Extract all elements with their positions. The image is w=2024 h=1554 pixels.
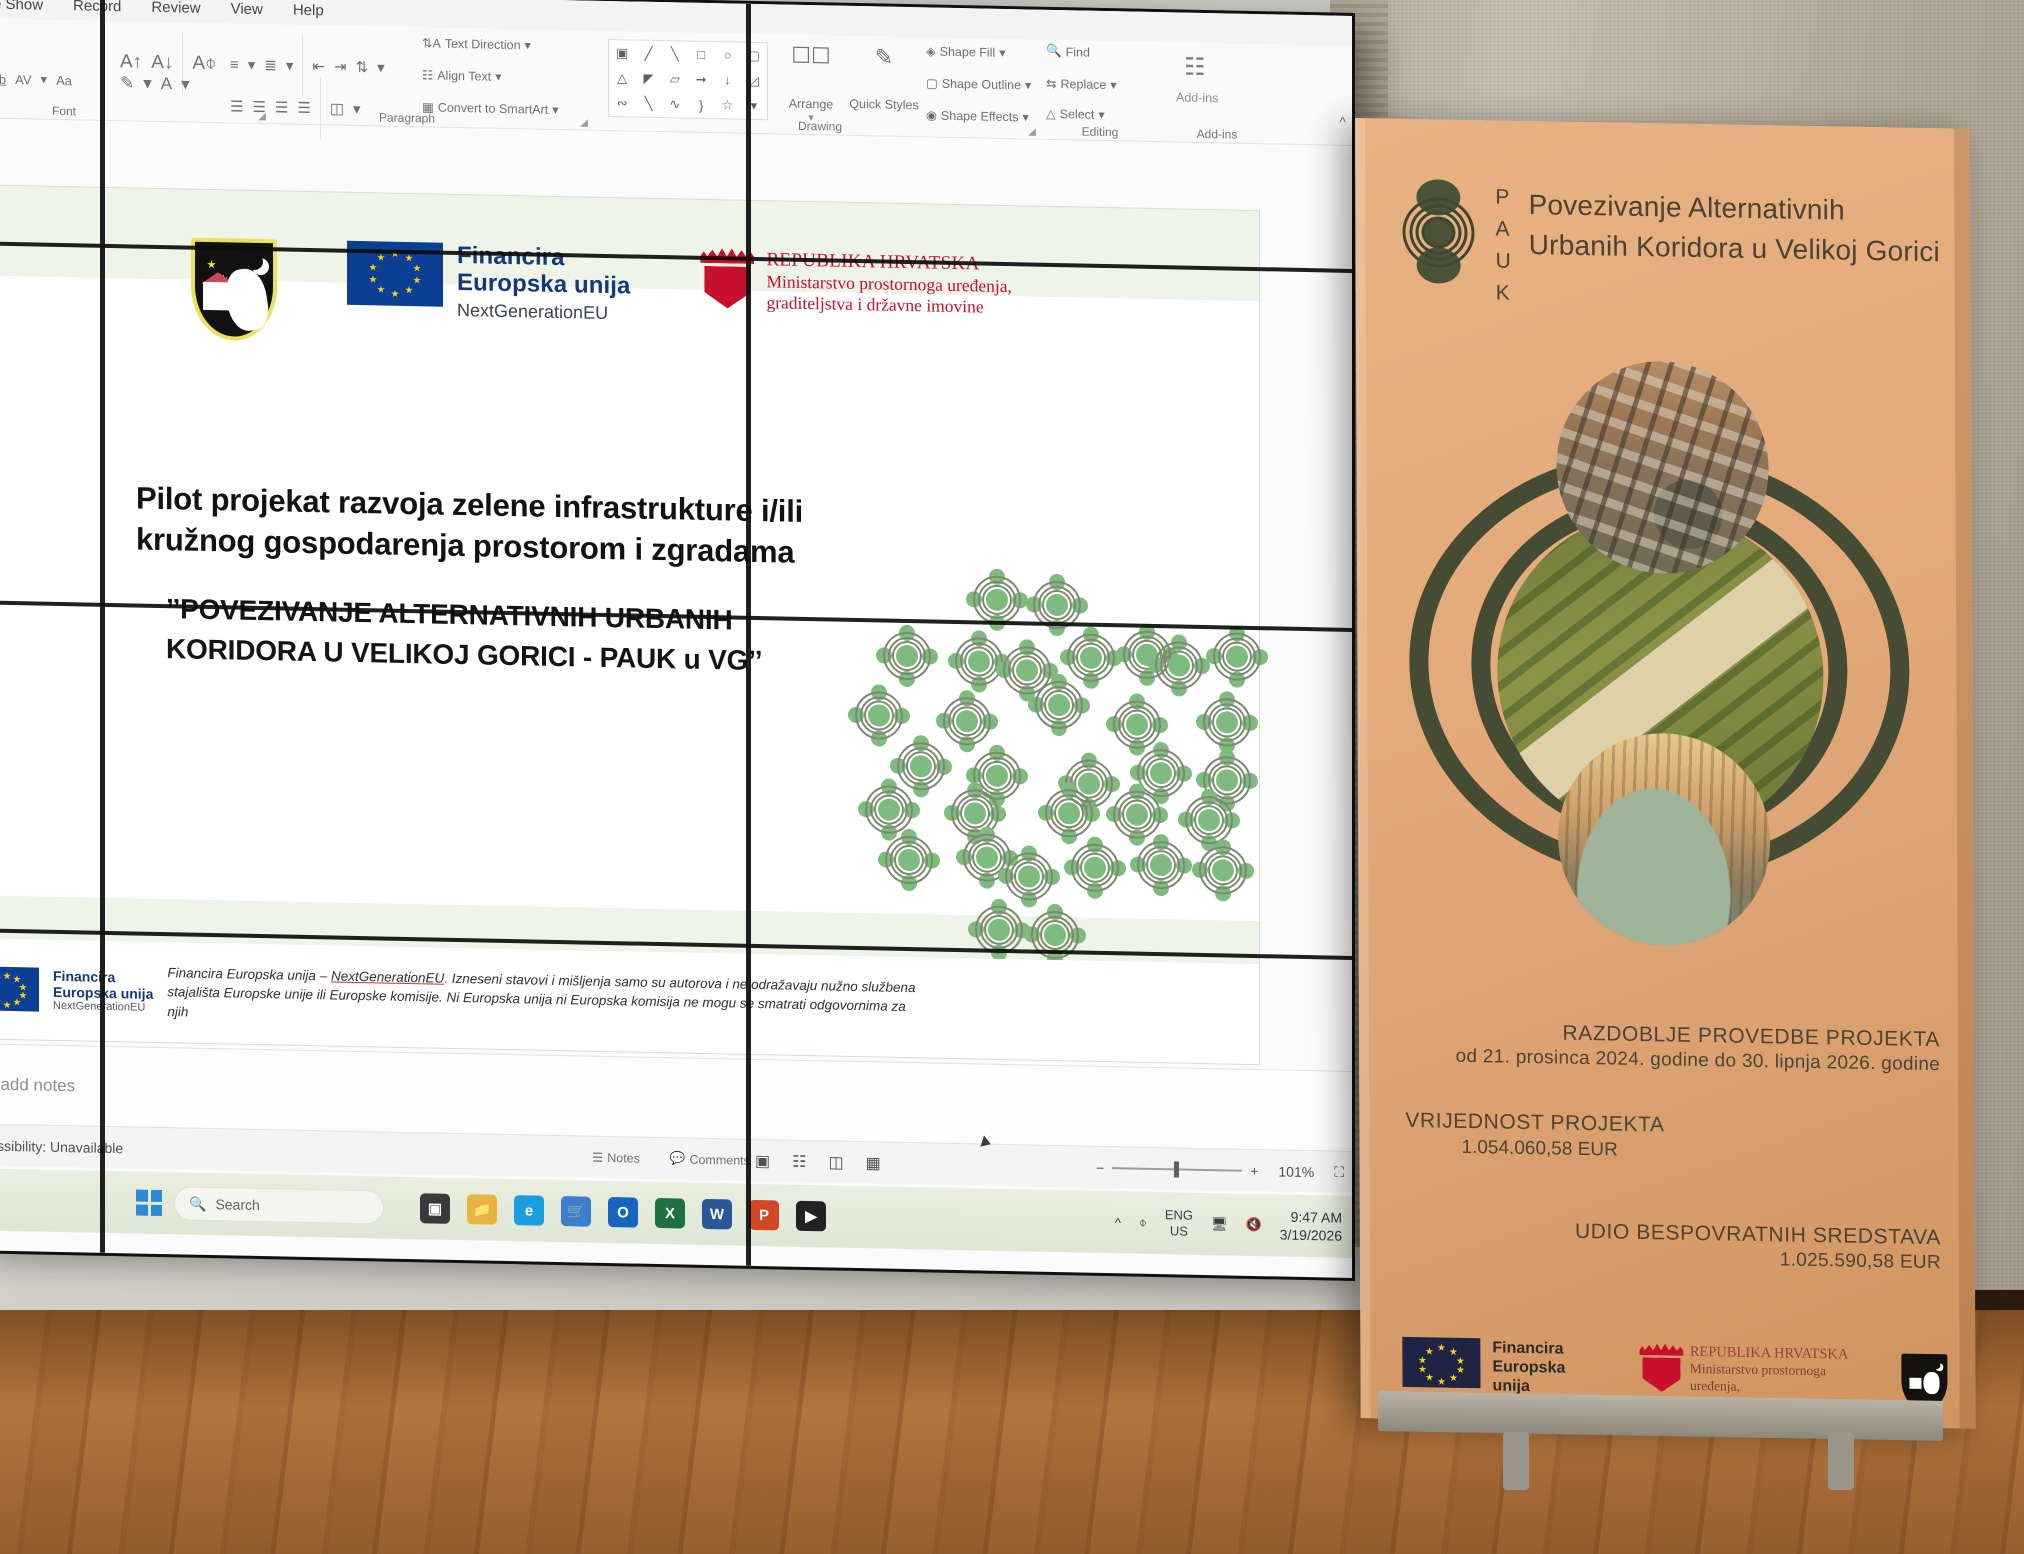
strikethrough-icon[interactable]: a̲b̲ [0,71,6,86]
eu-logo-line-3: NextGenerationEU [457,300,630,324]
tab-review[interactable]: Review [151,0,200,16]
banner-period-block: RAZDOBLJE PROVEDBE PROJEKTA od 21. prosi… [1399,1019,1940,1076]
value-heading: VRIJEDNOST PROJEKTA [1405,1109,1664,1138]
slide-canvas[interactable]: Financira Europska unija NextGenerationE… [0,184,1260,1065]
shape-curve[interactable]: ∾ [617,96,628,112]
reading-view-button[interactable]: ◫ [828,1152,843,1172]
tab-slide-show[interactable]: Slide Show [0,0,43,13]
pauk-pattern-mark [883,632,931,681]
addins-button[interactable]: Add-ins [1176,90,1218,105]
banner-value-block: VRIJEDNOST PROJEKTA 1.054.060,58 EUR [1405,1109,1664,1163]
line-spacing-icon[interactable]: ⇅ [356,58,369,76]
replace-button[interactable]: Replace [1060,77,1106,92]
numbering-icon[interactable]: ≣ [264,56,277,74]
photo-aerial-town-roundabout [1556,360,1769,576]
shape-freeform[interactable]: ╲ [645,96,653,112]
slide-disclaimer: Financira Europska unija – NextGeneratio… [167,963,927,1037]
disclaimer-link: NextGenerationEU [331,968,444,985]
pauk-pattern-mark [1137,841,1185,890]
decrease-font-size-icon[interactable]: A↓ [151,52,173,74]
clear-formatting-icon[interactable]: A⌽ [192,53,216,75]
pauk-pattern-graphic [855,573,1245,981]
chevron-down-icon[interactable]: ▾ [286,57,294,75]
chevron-down-icon[interactable]: ▾ [1023,109,1029,124]
zoom-track[interactable] [1112,1167,1242,1172]
pauk-pattern-mark [1005,852,1053,901]
pauk-pattern-mark [855,691,903,740]
ribbon-group-paragraph: ≡ ▾ ≣ ▾ ⇤ ⇥ ⇅ ▾ ☰ ☰ [222,23,592,130]
banner-ministry-line-2: Ministarstvo prostornoga uređenja, [1690,1361,1864,1398]
banner-artwork [1408,349,1931,978]
tab-help[interactable]: Help [293,1,324,19]
powerpoint-ribbon: Slide Show Record Review View Help ▾ ▾ [0,0,1352,146]
pauk-pattern-mark [1213,632,1261,681]
addins-icon[interactable]: ☷ [1184,53,1206,82]
clock-time: 9:47 AM [1280,1207,1342,1226]
microsoft-store-icon[interactable]: 🛒 [561,1196,591,1227]
bullets-icon[interactable]: ≡ [230,56,239,73]
powerpoint-icon[interactable]: P [749,1200,779,1231]
search-input[interactable]: 🔍 Search [174,1186,384,1224]
pauk-pattern-mark [1113,700,1161,749]
shape-parallelogram[interactable]: ▱ [670,71,680,87]
pauk-pattern-mark [1199,846,1247,895]
shape-arrow-down[interactable]: ↓ [724,73,731,88]
increase-font-size-icon[interactable]: A↑ [120,51,142,73]
pauk-pattern-mark [943,697,991,746]
shapes-gallery[interactable]: ▣ ╱ ╲ □ ○ ▢ △ ◤ ▱ ➞ ↓ ◿ ∾ [608,39,768,120]
paragraph-dialog-launcher[interactable]: ◢ [580,117,588,128]
character-spacing-icon[interactable]: AV [15,72,31,87]
search-placeholder: Search [215,1196,259,1213]
shape-textbox[interactable]: ▣ [616,45,628,61]
eu-funding-logo: Financira Europska unija NextGenerationE… [347,241,630,324]
tray-chevron-icon[interactable]: ^ [1115,1215,1121,1230]
banner-foot-left [1503,1432,1529,1490]
notes-placeholder: Click to add notes [0,1073,75,1096]
ribbon-group-drawing: ▣ ╱ ╲ □ ○ ▢ △ ◤ ▱ ➞ ↓ ◿ ∾ [600,31,1040,140]
pauk-pattern-mark [1155,641,1203,690]
chevron-down-icon[interactable]: ▾ [181,74,190,94]
change-case-icon[interactable]: Aa [56,72,72,87]
clock-date: 3/19/2026 [1280,1225,1342,1244]
drawing-dialog-launcher[interactable]: ◢ [1028,126,1036,137]
footer-eu-line-3: NextGenerationEU [53,1000,153,1014]
pauk-letter-u: U [1496,250,1511,271]
ministry-logo: REPUBLIKA HRVATSKA Ministarstvo prostorn… [700,248,1011,319]
pauk-pattern-mark [885,836,933,885]
word-icon[interactable]: W [702,1199,732,1230]
shape-effects-icon: ◉ [926,107,937,122]
banner-grant-block: UDIO BESPOVRATNIH SREDSTAVA 1.025.590,58… [1575,1220,1941,1274]
task-view-icon[interactable]: ▣ [420,1193,450,1224]
grant-amount: 1.025.590,58 EUR [1575,1246,1941,1274]
text-highlight-icon[interactable]: ✎ [120,73,134,93]
editing-group-label: Editing [1040,124,1160,140]
croatian-coat-of-arms-icon [700,248,754,309]
align-text-icon: ☷ [422,67,433,82]
pauk-letter-k: K [1496,282,1511,303]
pauk-logo-icon [1399,179,1477,284]
start-button[interactable] [136,1190,162,1217]
banner-header: P A U K Povezivanje Alternativnih Urbani… [1399,179,1940,311]
system-tray: ^ ⌽ ENG US 🖥 🔇 9:47 AM 3/19/2026 [1115,1204,1342,1245]
shape-rounded-rect[interactable]: ▢ [748,47,760,63]
notes-icon: ☰ [592,1150,603,1165]
shape-line[interactable]: ╱ [645,45,653,61]
shape-fill-button[interactable]: Shape Fill [940,44,996,59]
tab-view[interactable]: View [231,0,263,18]
disclaimer-part-a: Financira Europska unija – [167,965,331,983]
grant-heading: UDIO BESPOVRATNIH SREDSTAVA [1575,1220,1941,1250]
chevron-down-icon[interactable]: ▾ [1025,77,1031,92]
shape-scribble[interactable]: ∿ [669,97,680,113]
text-direction-icon: ⇅A [422,35,441,50]
excel-icon[interactable]: X [655,1198,685,1229]
shapes-more-icon[interactable]: ▾ [751,98,758,114]
shape-right-triangle[interactable]: ◤ [643,71,653,87]
pauk-pattern-mark [975,905,1023,954]
media-player-icon[interactable]: ▶ [796,1201,826,1232]
select-icon: △ [1046,106,1056,121]
ribbon-group-addins: ☷ Add-ins Add-ins [1162,42,1272,144]
video-wall-screen: Slide Show Record Review View Help ▾ ▾ [0,0,1352,1278]
chevron-down-icon[interactable]: ▾ [377,58,385,76]
pauk-pattern-mark [1035,681,1083,730]
collapse-ribbon-icon[interactable]: ^ [1339,114,1346,130]
pauk-pattern-mark [897,742,945,791]
shape-star[interactable]: ☆ [722,98,734,114]
chevron-down-icon[interactable]: ▾ [41,72,48,88]
pauk-pattern-mark [1045,789,1093,838]
replace-icon: ⇆ [1046,76,1056,91]
tab-record[interactable]: Record [73,0,121,15]
shape-rectangle[interactable]: □ [697,47,705,62]
pauk-pattern-mark [955,637,1003,686]
pauk-pattern-mark [1071,843,1119,892]
photo-of-room-with-screen-and-banner: Slide Show Record Review View Help ▾ ▾ [0,0,2024,1554]
banner-title-line-1: Povezivanje Alternativnih [1528,185,1939,232]
ministry-line-3: graditeljstva i državne imovine [766,293,1011,319]
banner-eu-flag-icon [1402,1337,1480,1388]
footer-eu-line-1: Financira [53,968,153,986]
comments-button[interactable]: 💬 Comments [670,1151,750,1168]
increase-indent-icon[interactable]: ⇥ [334,58,347,76]
normal-view-button[interactable]: ▣ [755,1150,770,1170]
microsoft-edge-icon[interactable]: e [514,1195,544,1226]
shape-outline-button[interactable]: Shape Outline [942,76,1021,92]
shape-brace[interactable]: } [699,98,703,113]
shape-callout[interactable]: ◿ [749,73,759,89]
photo-aerial-river-sunset [1558,732,1771,948]
chevron-down-icon[interactable]: ▾ [525,37,531,52]
footer-eu-flag-icon [0,966,39,1011]
pauk-pattern-mark [1203,698,1251,747]
eu-flag-icon [347,241,443,307]
chevron-down-icon[interactable]: ▾ [999,45,1005,60]
taskbar-apps: ▣ 📁 e 🛒 O X W P ▶ [420,1193,826,1231]
decrease-indent-icon[interactable]: ⇤ [312,57,325,75]
shape-fill-icon: ◈ [926,43,936,58]
clock[interactable]: 9:47 AM 3/19/2026 [1280,1207,1342,1245]
select-button[interactable]: Select [1060,107,1095,122]
quick-styles-icon: ✎ [848,44,920,71]
rollup-banner: P A U K Povezivanje Alternativnih Urbani… [1355,118,1976,1429]
pauk-pattern-mark [865,785,913,834]
display-icon[interactable]: 🖥 [1211,1216,1228,1232]
shape-outline-icon: ▢ [926,75,938,90]
chevron-down-icon[interactable]: ▾ [495,69,501,84]
pauk-letter-p: P [1495,186,1510,207]
pen-off-icon[interactable]: ⌽ [1139,1215,1147,1231]
align-text-button[interactable]: Align Text [437,68,491,83]
outlook-icon[interactable]: O [608,1197,638,1228]
slide-sorter-view-button[interactable]: ☷ [792,1151,806,1171]
shape-line-arrow[interactable]: ╲ [671,46,679,62]
zoom-out-button[interactable]: − [1096,1159,1104,1175]
pauk-pattern-mark [1033,581,1081,630]
find-button[interactable]: Find [1066,45,1090,59]
banner-foot-right [1828,1432,1854,1490]
eu-logo-line-2: Europska unija [457,270,630,300]
zoom-in-button[interactable]: + [1250,1162,1258,1178]
search-icon: 🔍 [189,1195,206,1212]
footer-eu-line-2: Europska unija [53,984,153,1002]
pauk-pattern-mark [1031,910,1079,959]
pauk-pattern-mark [1185,796,1233,845]
banner-title: Povezivanje Alternativnih Urbanih Korido… [1528,181,1940,272]
quick-styles-button[interactable]: Quick Styles [848,98,920,113]
shape-triangle[interactable]: △ [617,70,627,86]
banner-title-line-2: Urbanih Koridora u Velikoj Gorici [1529,225,1940,272]
chevron-down-icon[interactable]: ▾ [1110,77,1116,92]
accessibility-status[interactable]: Accessibility: Unavailable [0,1137,123,1156]
language-indicator[interactable]: ENG US [1165,1207,1193,1240]
shape-arrow-right[interactable]: ➞ [696,72,707,88]
arrange-icon: ☐☐ [778,42,844,69]
banner-footer-eu-line-2: Europska unija [1492,1358,1601,1398]
text-direction-button[interactable]: Text Direction [445,36,521,52]
ribbon-group-editing: 🔍 Find ⇆ Replace ▾ △ Select ▾ [1040,40,1160,142]
pauk-pattern-mark [1113,790,1161,839]
value-amount: 1.054.060,58 EUR [1405,1136,1664,1163]
fit-slide-icon[interactable]: ⛶ [1334,1164,1344,1181]
zoom-slider[interactable]: − + [1096,1159,1258,1178]
pauk-acronym: P A U K [1495,180,1511,303]
volume-muted-icon[interactable]: 🔇 [1246,1217,1262,1233]
velika-gorica-crest-icon [191,238,277,342]
pauk-letter-a: A [1495,218,1510,239]
chevron-down-icon[interactable]: ▾ [248,56,256,74]
arrange-button[interactable]: Arrange [778,96,844,111]
file-explorer-icon[interactable]: 📁 [467,1194,497,1225]
zoom-thumb[interactable] [1174,1161,1179,1177]
chevron-down-icon[interactable]: ▾ [143,74,152,94]
zoom-level-label[interactable]: 101% [1278,1163,1314,1180]
banner-croatian-coat-of-arms-icon [1639,1343,1680,1392]
pauk-pattern-mark [1067,633,1115,682]
chevron-down-icon[interactable]: ▾ [1098,107,1104,122]
search-icon: 🔍 [1046,44,1062,59]
shape-oval[interactable]: ○ [724,47,732,62]
pauk-pattern-mark [973,575,1021,624]
addins-group-label: Add-ins [1162,126,1272,142]
notes-button[interactable]: ☰ Notes [592,1150,640,1166]
banner-footer-eu-line-1: Financira [1492,1338,1601,1359]
font-color-icon[interactable]: A [161,74,172,94]
slide-logo-row: Financira Europska unija NextGenerationE… [191,238,1012,356]
comment-icon: 💬 [670,1151,686,1166]
slide-show-view-button[interactable]: ▦ [866,1153,881,1173]
